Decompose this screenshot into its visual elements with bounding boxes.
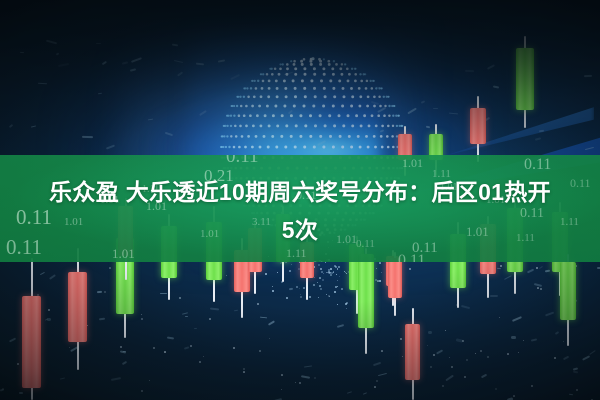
headline-line-2: 5次 [282,211,318,245]
headline-line-1: 乐众盈 大乐透近10期周六奖号分布：后区01热开 [43,173,557,207]
banner-image: 0.110.111.011.011.011.011.010.210.110.11… [0,0,600,400]
headline-text: 乐众盈 大乐透近10期周六奖号分布：后区01热开 5次 [0,155,600,262]
headline-band: 0.110.111.011.011.011.011.010.210.110.11… [0,155,600,262]
